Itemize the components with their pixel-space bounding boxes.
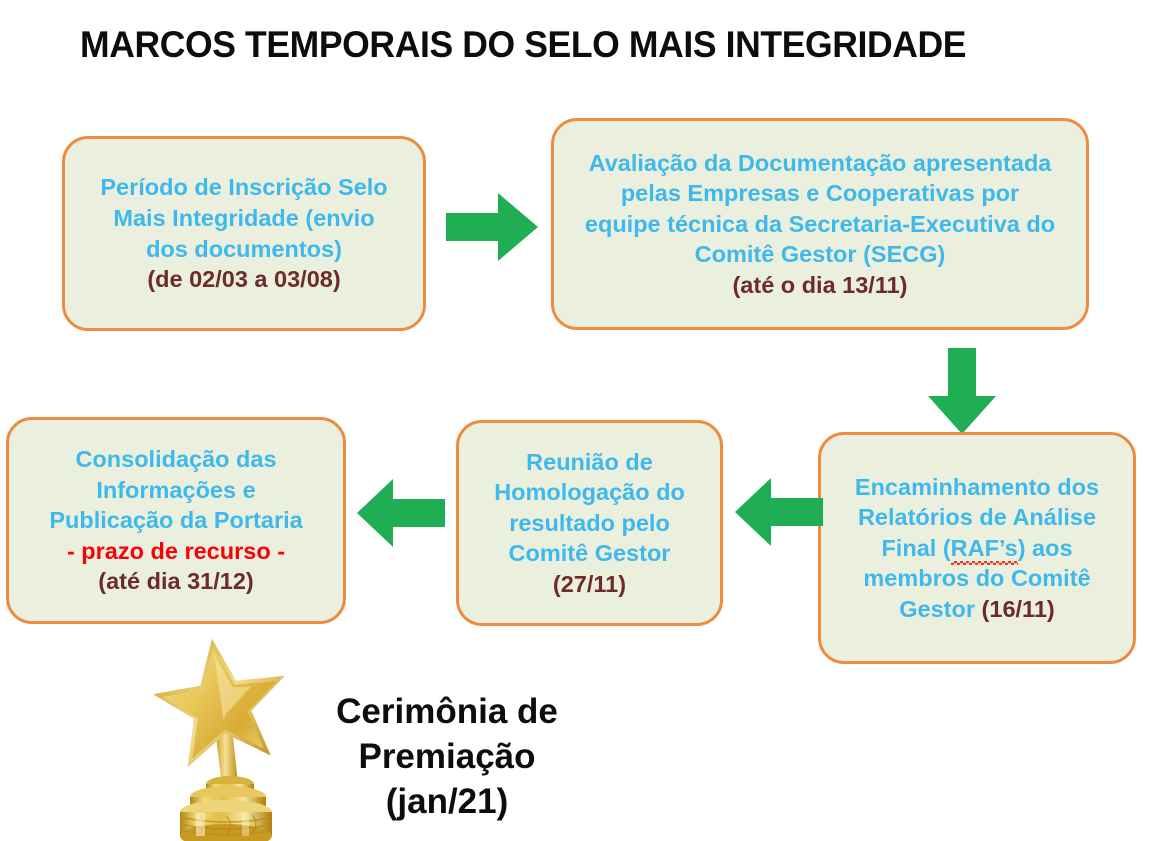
flow-box-line: Publicação da Portaria [19, 505, 333, 536]
flow-box-line-mixed: Gestor (16/11) [831, 594, 1123, 625]
arrow-right-icon [446, 193, 538, 261]
ceremony-line: Cerimônia de [318, 690, 576, 735]
flow-box-line: Encaminhamento dos [831, 472, 1123, 503]
flow-box-line-spellchecked: Final (RAF’s) aos [831, 533, 1123, 564]
gold-star-trophy-icon [152, 634, 298, 841]
arrow-left-icon [357, 479, 445, 547]
flow-box-highlight: - prazo de recurso - [19, 536, 333, 567]
flow-box-consolidacao[interactable]: Consolidação das Informações e Publicaçã… [6, 417, 346, 624]
flow-box-line: Homologação do [469, 477, 710, 508]
infographic-canvas: MARCOS TEMPORAIS DO SELO MAIS INTEGRIDAD… [0, 0, 1150, 841]
flow-box-line-text: Gestor [899, 596, 981, 622]
flow-box-line: dos documentos) [75, 234, 413, 265]
ceremony-line: Premiação [318, 735, 576, 780]
flow-box-line: Avaliação da Documentação apresentada [564, 148, 1076, 179]
flow-box-deadline: (27/11) [469, 569, 710, 600]
flow-box-deadline: (até o dia 13/11) [564, 270, 1076, 301]
flow-box-line: Informações e [19, 475, 333, 506]
flow-box-avaliacao[interactable]: Avaliação da Documentação apresentada pe… [551, 118, 1089, 330]
flow-box-deadline: (de 02/03 a 03/08) [75, 264, 413, 295]
flow-box-deadline: (até dia 31/12) [19, 566, 333, 597]
flow-box-encaminhamento[interactable]: Encaminhamento dos Relatórios de Análise… [818, 432, 1136, 664]
flow-box-line: membros do Comitê [831, 563, 1123, 594]
flow-box-line: equipe técnica da Secretaria-Executiva d… [564, 209, 1076, 240]
ceremony-caption: Cerimônia de Premiação (jan/21) [318, 690, 576, 824]
flow-box-line: Comitê Gestor [469, 538, 710, 569]
arrow-down-icon [928, 348, 996, 434]
spellcheck-underline: RAF’s [951, 533, 1018, 564]
flow-box-reuniao[interactable]: Reunião de Homologação do resultado pelo… [456, 420, 723, 626]
flow-box-line: Mais Integridade (envio [75, 203, 413, 234]
flow-box-line: Período de Inscrição Selo [75, 172, 413, 203]
flow-box-line: pelas Empresas e Cooperativas por [564, 178, 1076, 209]
flow-box-line: Comitê Gestor (SECG) [564, 239, 1076, 270]
flow-box-line: Relatórios de Análise [831, 502, 1123, 533]
flow-box-line: Consolidação das [19, 444, 333, 475]
flow-box-line: Reunião de [469, 447, 710, 478]
flow-box-line: resultado pelo [469, 508, 710, 539]
flow-box-inscricao[interactable]: Período de Inscrição Selo Mais Integrida… [62, 136, 426, 331]
ceremony-date: (jan/21) [318, 780, 576, 825]
page-title: MARCOS TEMPORAIS DO SELO MAIS INTEGRIDAD… [80, 24, 1030, 66]
arrow-left-icon [735, 478, 823, 546]
flow-box-deadline: (16/11) [982, 596, 1055, 622]
